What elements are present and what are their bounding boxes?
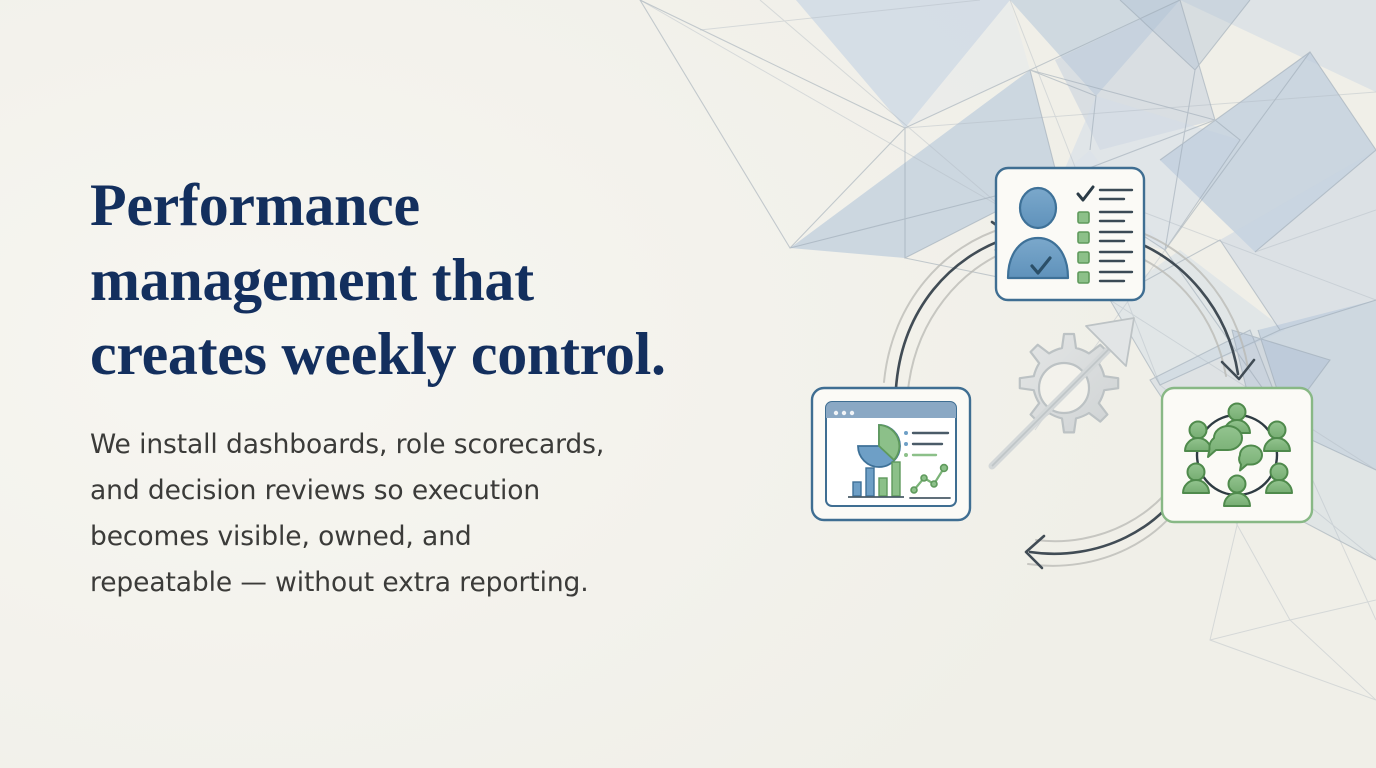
page-title: Performance management that creates week… bbox=[90, 168, 790, 392]
window-dots bbox=[834, 411, 854, 415]
role-scorecard-card[interactable] bbox=[996, 168, 1144, 300]
hero-slide: Performance management that creates week… bbox=[0, 0, 1376, 768]
hero-copy-block: Performance management that creates week… bbox=[90, 168, 790, 605]
gear-growth-arrow-icon bbox=[992, 318, 1134, 466]
window-title-bar bbox=[826, 402, 956, 418]
dashboard-card[interactable] bbox=[812, 388, 970, 520]
performance-management-cycle-illustration bbox=[796, 150, 1336, 610]
decision-review-card[interactable] bbox=[1162, 388, 1312, 522]
dashboard-window-icon bbox=[826, 402, 956, 506]
hero-subcopy: We install dashboards, role scorecards, … bbox=[90, 422, 790, 605]
gear-icon bbox=[1020, 334, 1118, 432]
